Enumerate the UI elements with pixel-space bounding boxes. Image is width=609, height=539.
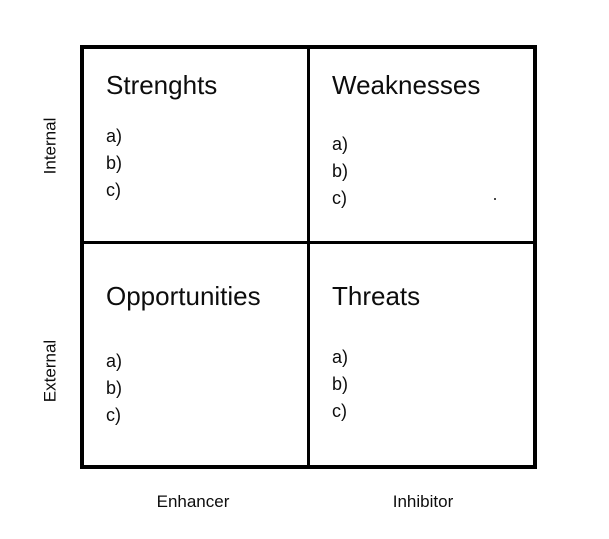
quadrant-threats-list: a) b) c) (332, 344, 533, 425)
list-item[interactable]: a) (332, 131, 533, 158)
list-item[interactable]: a) (332, 344, 533, 371)
list-item[interactable]: a) (106, 348, 307, 375)
row-label-internal: Internal (42, 118, 59, 175)
quadrant-strengths[interactable]: Strenghts a) b) c) (84, 49, 307, 241)
quadrant-weaknesses-title: Weaknesses (332, 71, 533, 99)
list-item[interactable]: b) (106, 150, 307, 177)
row-label-external: External (42, 340, 59, 402)
quadrant-opportunities[interactable]: Opportunities a) b) c) (84, 244, 307, 465)
ink-dot-artifact (494, 198, 496, 200)
list-item[interactable]: b) (332, 158, 533, 185)
quadrant-strengths-list: a) b) c) (106, 123, 307, 204)
column-label-inhibitor: Inhibitor (309, 492, 537, 512)
quadrant-weaknesses-list: a) b) c) (332, 131, 533, 212)
column-label-enhancer: Enhancer (80, 492, 306, 512)
list-item[interactable]: c) (332, 185, 533, 212)
quadrant-weaknesses[interactable]: Weaknesses a) b) c) (310, 49, 533, 241)
quadrant-threats[interactable]: Threats a) b) c) (310, 244, 533, 465)
quadrant-opportunities-title: Opportunities (106, 282, 307, 310)
quadrant-threats-title: Threats (332, 282, 533, 310)
quadrant-opportunities-list: a) b) c) (106, 348, 307, 429)
list-item[interactable]: b) (106, 375, 307, 402)
quadrant-strengths-title: Strenghts (106, 71, 307, 99)
list-item[interactable]: c) (332, 398, 533, 425)
list-item[interactable]: c) (106, 402, 307, 429)
list-item[interactable]: b) (332, 371, 533, 398)
swot-matrix: Strenghts a) b) c) Weaknesses a) b) c) O… (80, 45, 537, 469)
list-item[interactable]: c) (106, 177, 307, 204)
list-item[interactable]: a) (106, 123, 307, 150)
